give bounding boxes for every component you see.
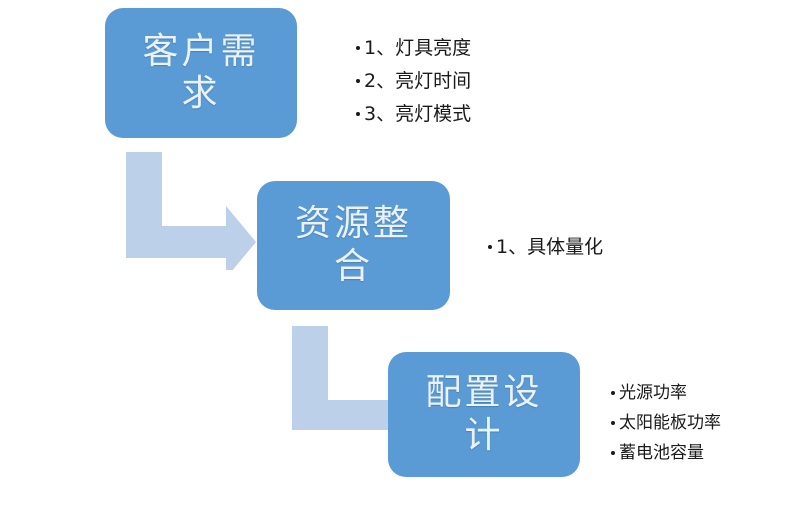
process-box-demand[interactable]: 客户需求 <box>105 8 297 138</box>
bullet-dot-icon <box>488 245 492 249</box>
diagram-canvas: 客户需求 1、灯具亮度 2、亮灯时间 3、亮灯模式 资源整合 1、具体量化 配置… <box>0 0 805 506</box>
arrow-demand-to-resource-icon <box>122 148 260 270</box>
bullet-text: 2、亮灯时间 <box>364 65 471 98</box>
process-box-config-label: 配置设计 <box>399 372 569 457</box>
bullet-dot-icon <box>611 451 615 455</box>
bullet-dot-icon <box>611 391 615 395</box>
bullet-dot-icon <box>611 421 615 425</box>
list-item: 2、亮灯时间 <box>356 65 471 98</box>
list-item: 太阳能板功率 <box>611 408 721 438</box>
bullet-dot-icon <box>356 112 360 116</box>
bullet-text: 3、亮灯模式 <box>364 98 471 131</box>
bullet-text: 1、具体量化 <box>496 232 603 262</box>
process-box-resource-label: 资源整合 <box>269 203 439 288</box>
process-box-config[interactable]: 配置设计 <box>388 352 580 477</box>
list-item: 1、灯具亮度 <box>356 32 471 65</box>
bullet-dot-icon <box>356 46 360 50</box>
bullet-text: 光源功率 <box>619 378 687 408</box>
process-box-resource[interactable]: 资源整合 <box>257 181 450 310</box>
process-box-demand-label: 客户需求 <box>116 31 286 116</box>
bullet-text: 蓄电池容量 <box>619 438 704 468</box>
list-item: 3、亮灯模式 <box>356 98 471 131</box>
bullet-list-demand: 1、灯具亮度 2、亮灯时间 3、亮灯模式 <box>356 32 471 131</box>
bullet-dot-icon <box>356 79 360 83</box>
bullet-text: 1、灯具亮度 <box>364 32 471 65</box>
bullet-list-resource: 1、具体量化 <box>488 232 603 262</box>
list-item: 光源功率 <box>611 378 721 408</box>
list-item: 1、具体量化 <box>488 232 603 262</box>
bullet-list-config: 光源功率 太阳能板功率 蓄电池容量 <box>611 378 721 468</box>
list-item: 蓄电池容量 <box>611 438 721 468</box>
bullet-text: 太阳能板功率 <box>619 408 721 438</box>
